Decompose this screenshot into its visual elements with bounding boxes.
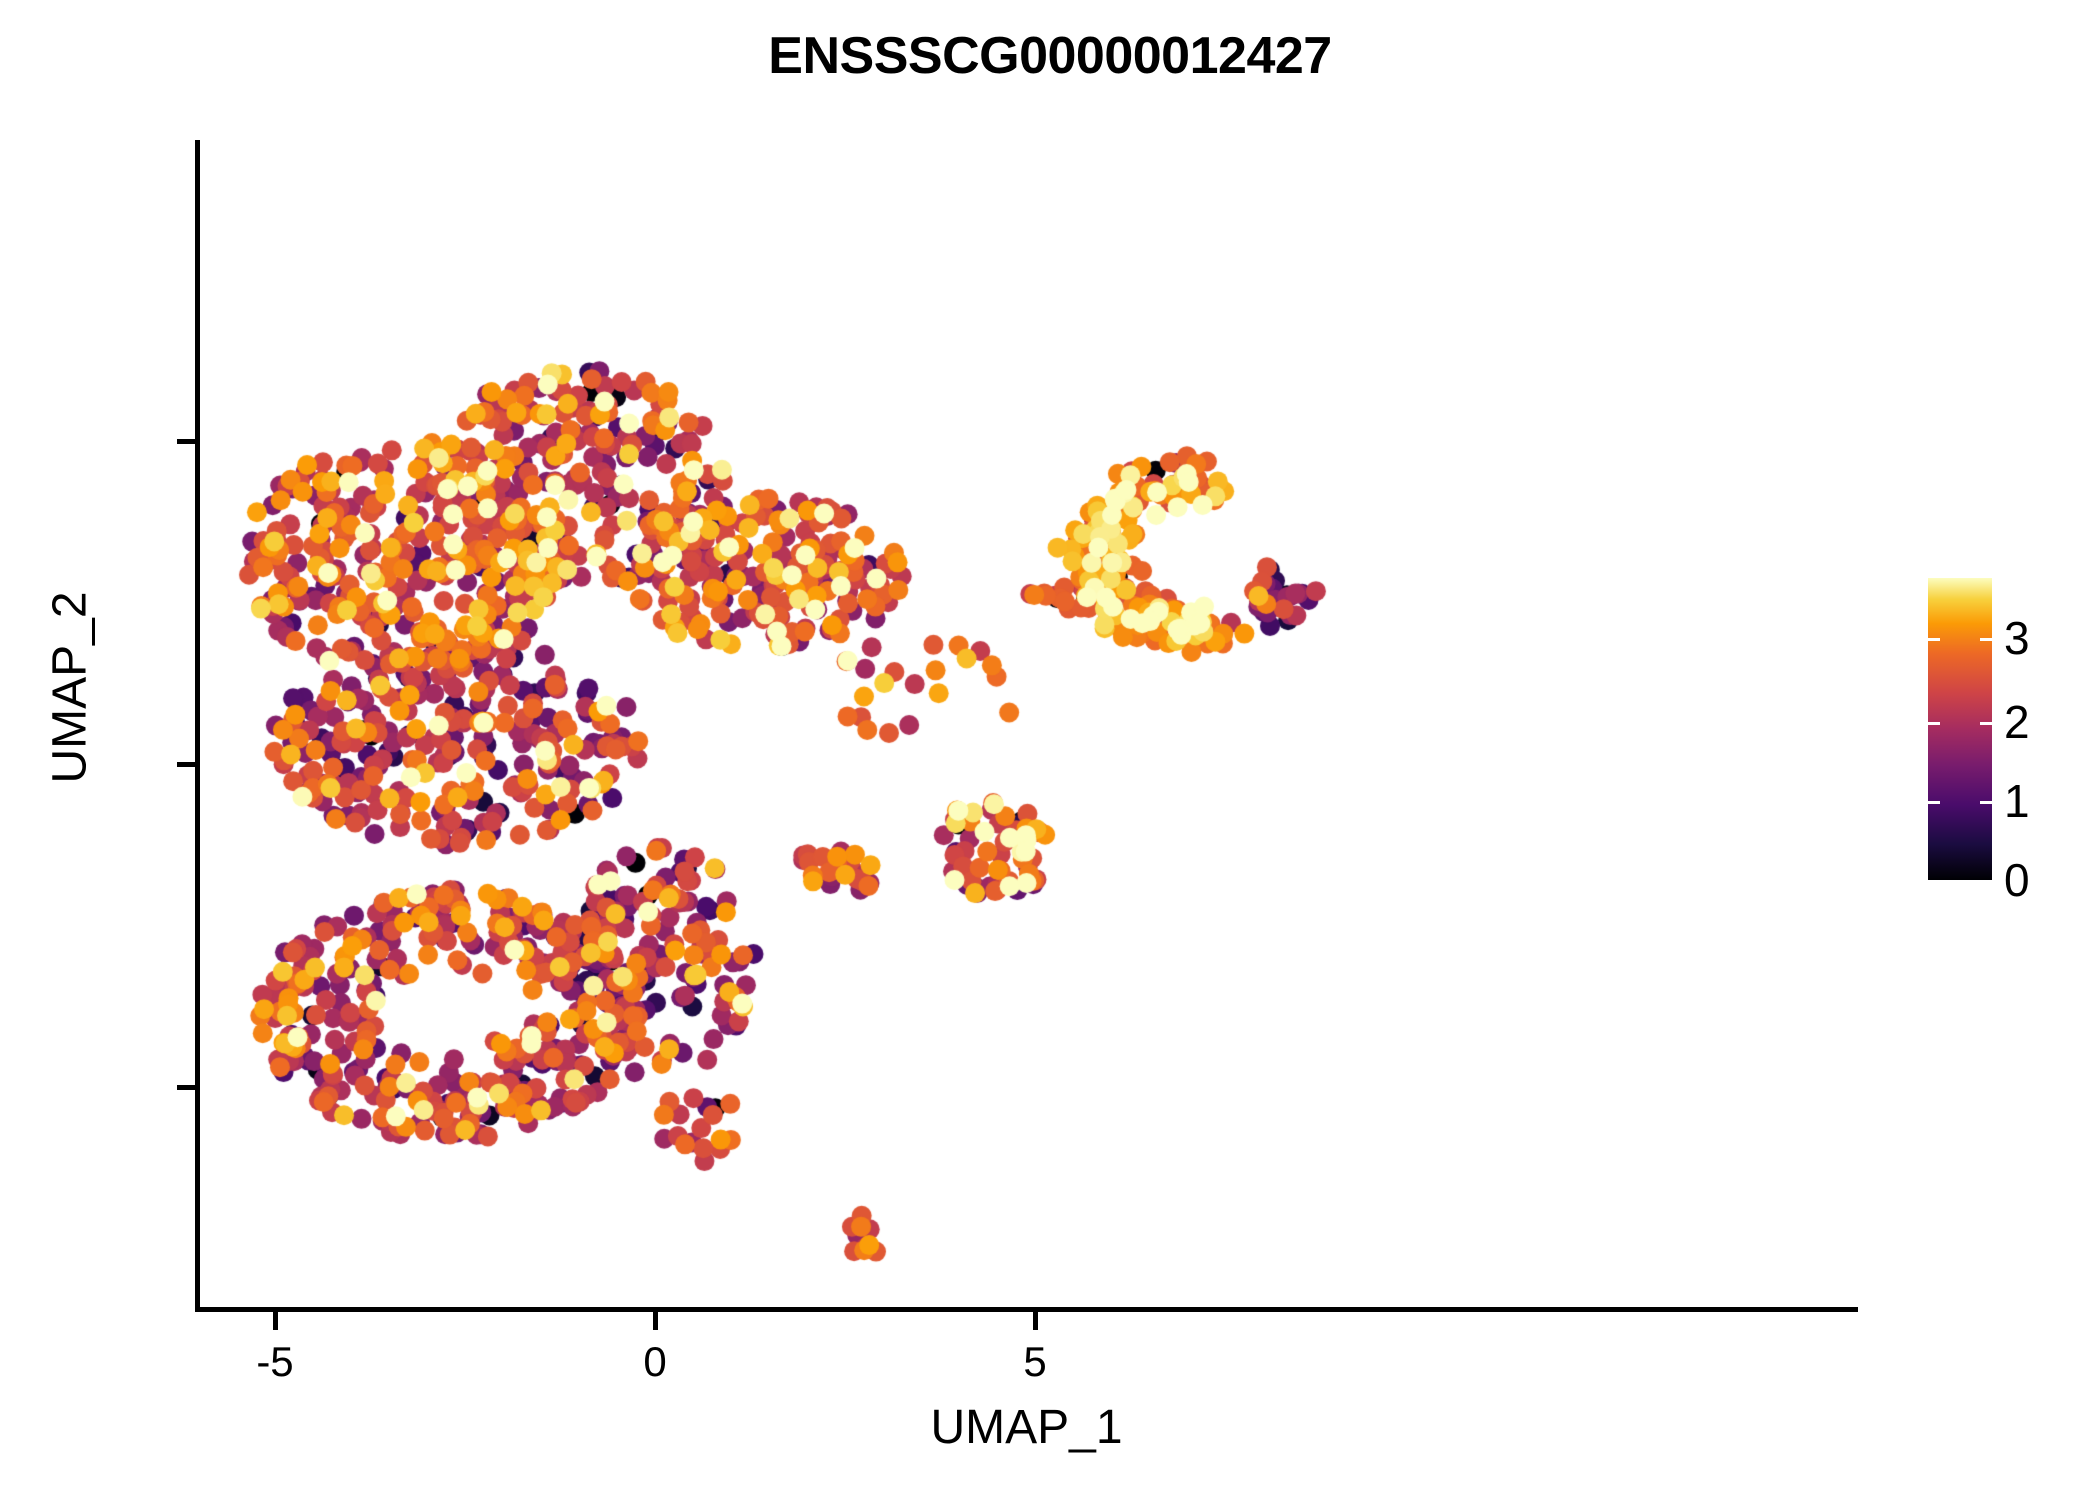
- y-axis-label: UMAP_2: [43, 308, 98, 1068]
- x-tick-label: 0: [585, 1338, 725, 1386]
- colorbar-tick-mark: [1928, 722, 1940, 725]
- colorbar-tick-label: 1: [2004, 774, 2030, 828]
- colorbar-gradient: [1928, 578, 1992, 880]
- colorbar-tick-label: 2: [2004, 695, 2030, 749]
- y-axis-line: [195, 140, 200, 1312]
- colorbar-tick-mark: [1980, 801, 1992, 804]
- colorbar-tick-mark: [1980, 638, 1992, 641]
- scatter-plot-canvas: [0, 0, 2100, 1500]
- colorbar-tick-mark: [1980, 880, 1992, 883]
- x-axis-label: UMAP_1: [195, 1400, 1858, 1455]
- x-tick-label: 5: [965, 1338, 1105, 1386]
- x-tick-mark: [273, 1312, 278, 1330]
- x-tick-mark: [1033, 1312, 1038, 1330]
- colorbar-tick-mark: [1928, 880, 1940, 883]
- x-tick-mark: [653, 1312, 658, 1330]
- umap-feature-plot: ENSSSCG00000012427 40-4 -505 UMAP_1 UMAP…: [0, 0, 2100, 1500]
- page-title: ENSSSCG00000012427: [0, 28, 2100, 85]
- colorbar-tick-label: 0: [2004, 853, 2030, 907]
- y-tick-mark: [177, 762, 195, 767]
- colorbar-tick-mark: [1928, 801, 1940, 804]
- y-tick-mark: [177, 439, 195, 444]
- x-axis-line: [195, 1307, 1858, 1312]
- colorbar-tick-mark: [1980, 722, 1992, 725]
- colorbar-legend: [1928, 578, 1992, 880]
- colorbar-tick-label: 3: [2004, 611, 2030, 665]
- y-tick-mark: [177, 1085, 195, 1090]
- colorbar-tick-mark: [1928, 638, 1940, 641]
- x-tick-label: -5: [205, 1338, 345, 1386]
